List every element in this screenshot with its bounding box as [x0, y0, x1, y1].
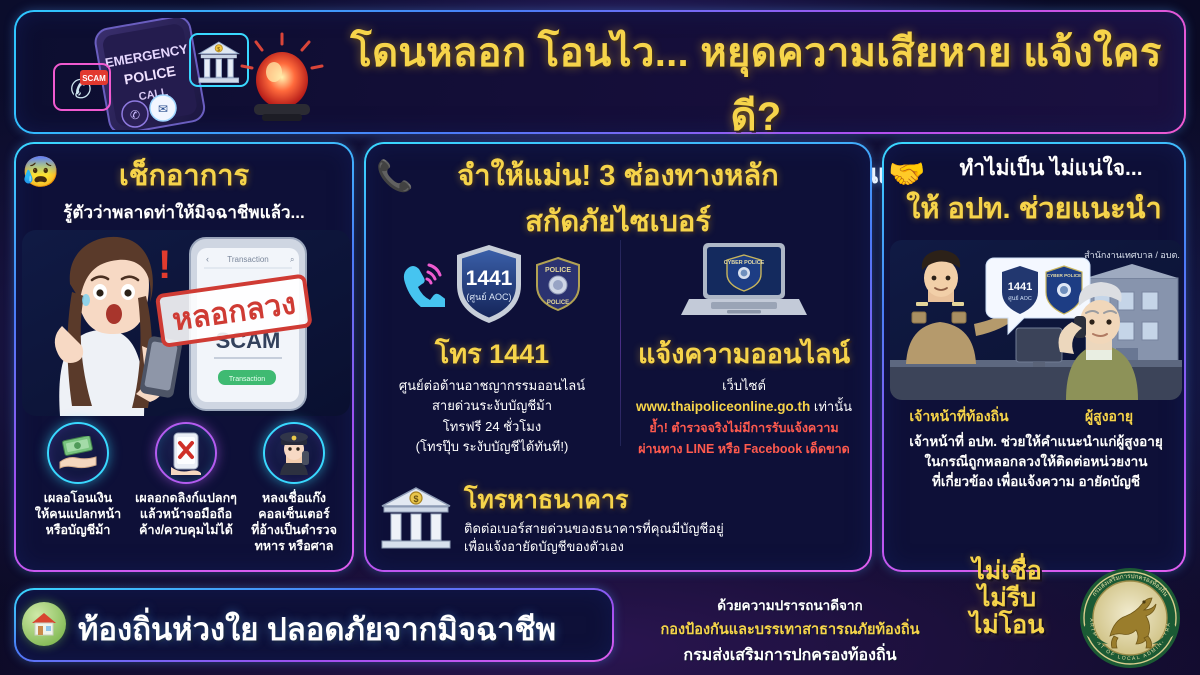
right-panel-heading-line1: ทำไม่เป็น ไม่แน่ใจ... — [892, 152, 1176, 185]
left-panel-header: 😰 เช็กอาการ รู้ตัวว่าพลาดท่าให้มิจฉาชีพแ… — [16, 152, 352, 226]
list-item: เผลอโอนเงิน ให้คนแปลกหน้า หรือบัญชีม้า — [26, 422, 130, 554]
call-1441-line1: ศูนย์ต่อต้านอาชญากรรมออนไลน์ — [372, 377, 612, 395]
bank-text-block: โทรหาธนาคาร ติดต่อเบอร์สายด่วนของธนาคารท… — [464, 480, 724, 556]
right-panel-body: เจ้าหน้าที่ อปท. ช่วยให้คำแนะนำแก่ผู้สูง… — [892, 432, 1180, 492]
left-panel-heading: เช็กอาการ — [24, 152, 344, 198]
svg-text:SCAM: SCAM — [82, 74, 106, 83]
right-body-line2: ในกรณีถูกหลอกลวงให้ติดต่อหน่วยงาน — [892, 452, 1180, 472]
footer-tagline-bar: ท้องถิ่นห่วงใย ปลอดภัยจากมิจฉาชีพ — [14, 588, 614, 662]
slogan-line-2: ไม่รีบ — [952, 585, 1062, 612]
svg-text:POLICE: POLICE — [545, 267, 571, 274]
svg-text:Transaction: Transaction — [229, 376, 265, 383]
website-url-row: www.thaipoliceonline.go.th เท่านั้น — [624, 397, 864, 416]
fake-police-icon — [263, 422, 325, 484]
svg-text:✉: ✉ — [158, 102, 168, 116]
page-title: โดนหลอก โอนไว... หยุดความเสียหาย แจ้งใคร… — [336, 20, 1176, 148]
panel-check-symptoms: 😰 เช็กอาการ รู้ตัวว่าพลาดท่าให้มิจฉาชีพแ… — [14, 142, 354, 572]
left-panel-subheading: รู้ตัวว่าพลาดท่าให้มิจฉาชีพแล้ว... — [24, 199, 344, 226]
website-url[interactable]: www.thaipoliceonline.go.th — [636, 399, 810, 414]
home-icon — [22, 602, 66, 646]
svg-text:POLICE: POLICE — [547, 300, 569, 306]
svg-text:‹: ‹ — [206, 254, 209, 264]
svg-text:$: $ — [413, 494, 418, 504]
website-url-suffix: เท่านั้น — [814, 399, 852, 414]
list-item-label: เผลอกดลิงก์แปลกๆ แล้วหน้าจอมือถือ ค้าง/ค… — [134, 490, 238, 538]
list-item: เผลอกดลิงก์แปลกๆ แล้วหน้าจอมือถือ ค้าง/ค… — [134, 422, 238, 554]
svg-text:CYBER POLICE: CYBER POLICE — [1047, 273, 1081, 278]
mid-panel-heading-line1: จำให้แม่น! 3 ช่องทางหลัก — [374, 152, 862, 198]
call-1441-illustration: 1441 (ศูนย์ AOC) POLICE POLICE — [372, 236, 612, 332]
svg-text:(ศูนย์ AOC): (ศูนย์ AOC) — [466, 291, 511, 303]
credit-line-2: กองป้องกันและบรรเทาสาธารณภัยท้องถิ่น — [630, 618, 950, 641]
police-badge-icon: POLICE POLICE — [533, 256, 583, 312]
label-elderly-person: ผู้สูงอายุ — [1034, 406, 1184, 428]
call-1441-line3: โทรฟรี 24 ชั่วโมง — [372, 418, 612, 436]
svg-text:!: ! — [158, 243, 171, 287]
online-report-warning-line1: ย้ำ! ตำรวจจริงไม่มีการรับแจ้งความ — [624, 420, 864, 438]
slogan-line-1: ไม่เชื่อ — [952, 558, 1062, 585]
panel-local-authority-help: 🤝 ทำไม่เป็น ไม่แน่ใจ... ให้ อปท. ช่วยแนะ… — [882, 142, 1186, 572]
call-1441-title: โทร 1441 — [372, 332, 612, 375]
website-label: เว็บไซต์ — [624, 377, 864, 395]
credit-line-3: กรมส่งเสริมการปกครองท้องถิ่น — [630, 643, 950, 668]
footer-slogan: ไม่เชื่อ ไม่รีบ ไม่โอน — [952, 558, 1062, 639]
online-report-title: แจ้งความออนไลน์ — [624, 332, 864, 375]
symptom-badge-list: เผลอโอนเงิน ให้คนแปลกหน้า หรือบัญชีม้า เ… — [24, 422, 348, 554]
credit-line-1: ด้วยความปรารถนาดีจาก — [630, 594, 950, 616]
cash-in-hand-icon — [47, 422, 109, 484]
right-panel-header: 🤝 ทำไม่เป็น ไม่แน่ใจ... ให้ อปท. ช่วยแนะ… — [884, 152, 1184, 231]
svg-text:✆: ✆ — [130, 108, 140, 122]
header-banner: EMERGENCY POLICE CALL ✆ ✉ ✆ SCAM — [14, 10, 1186, 134]
cyber-police-laptop-illustration: CYBER POLICE — [624, 236, 864, 332]
call-1441-line2: สายด่วนระงับบัญชีม้า — [372, 397, 612, 415]
channel-online-report: CYBER POLICE แจ้งความออนไลน์ เว็บไซต์ ww… — [618, 236, 870, 458]
list-item-label: เผลอโอนเงิน ให้คนแปลกหน้า หรือบัญชีม้า — [26, 490, 130, 538]
right-panel-heading-line2: ให้ อปท. ช่วยแนะนำ — [892, 185, 1176, 231]
label-local-officer: เจ้าหน้าที่ท้องถิ่น — [884, 406, 1034, 428]
channel-call-bank: $ โทรหาธนาคาร ติดต่อเบอร์สายด่วนของธนาคา… — [380, 480, 860, 556]
svg-text:1441: 1441 — [1008, 281, 1032, 293]
officer-elderly-illustration: สำนักงานเทศบาล / อบต. — [890, 240, 1182, 400]
illustration-labels: เจ้าหน้าที่ท้องถิ่น ผู้สูงอายุ — [884, 406, 1184, 428]
online-report-warning-line2: ผ่านทาง LINE หรือ Facebook เด็ดขาด — [624, 441, 864, 459]
call-1441-line4: (โทรปุ๊บ ระงับบัญชีได้ทันที!) — [372, 438, 612, 456]
svg-text:CYBER POLICE: CYBER POLICE — [724, 260, 765, 266]
header-illustration: EMERGENCY POLICE CALL ✆ ✉ ✆ SCAM — [30, 18, 330, 130]
worried-face-icon: 😰 — [22, 158, 59, 188]
footer-tagline: ท้องถิ่นห่วงใย ปลอดภัยจากมิจฉาชีพ — [78, 604, 556, 654]
list-item: หลงเชื่อแก๊ง คอลเซ็นเตอร์ ที่อ้างเป็นตำร… — [242, 422, 346, 554]
svg-text:$: $ — [217, 47, 220, 53]
bank-title: โทรหาธนาคาร — [464, 480, 724, 520]
bank-icon: $ — [380, 486, 452, 550]
list-item-label: หลงเชื่อแก๊ง คอลเซ็นเตอร์ ที่อ้างเป็นตำร… — [242, 490, 346, 554]
svg-text:Transaction: Transaction — [227, 255, 269, 264]
phone-x-icon — [155, 422, 217, 484]
right-body-line3: ที่เกี่ยวข้อง เพื่อแจ้งความ อายัดบัญชี — [892, 472, 1180, 492]
svg-text:สำนักงานเทศบาล / อบต.: สำนักงานเทศบาล / อบต. — [1084, 250, 1180, 260]
svg-text:ศูนย์ AOC: ศูนย์ AOC — [1008, 295, 1032, 302]
handshake-icon: 🤝 — [888, 160, 925, 190]
telephone-icon: 📞 — [376, 162, 413, 192]
right-body-line1: เจ้าหน้าที่ อปท. ช่วยให้คำแนะนำแก่ผู้สูง… — [892, 432, 1180, 452]
shield-1441-icon: 1441 (ศูนย์ AOC) — [453, 243, 525, 325]
bank-line2: เพื่อแจ้งอายัดบัญชีของตัวเอง — [464, 538, 724, 556]
ringing-phone-icon — [401, 261, 445, 307]
channel-call-1441: 1441 (ศูนย์ AOC) POLICE POLICE โทร 1441 … — [366, 236, 618, 458]
svg-text:⌕: ⌕ — [290, 255, 294, 264]
panel-three-channels: 📞 จำให้แม่น! 3 ช่องทางหลัก สกัดภัยไซเบอร… — [364, 142, 872, 572]
bank-line1: ติดต่อเบอร์สายด่วนของธนาคารที่คุณมีบัญชี… — [464, 520, 724, 538]
svg-text:1441: 1441 — [466, 267, 513, 290]
slogan-line-3: ไม่โอน — [952, 612, 1062, 639]
footer-credits: ด้วยความปรารถนาดีจาก กองป้องกันและบรรเทา… — [630, 594, 950, 668]
scam-victim-illustration: Transaction ‹ ⌕ SCAM Transaction ! — [22, 230, 350, 416]
infographic-canvas: EMERGENCY POLICE CALL ✆ ✉ ✆ SCAM — [0, 0, 1200, 675]
dla-seal-logo: กรมส่งเสริมการปกครองท้องถิ่น DEPARTMENT … — [1074, 566, 1186, 670]
mid-panel-header: 📞 จำให้แม่น! 3 ช่องทางหลัก สกัดภัยไซเบอร… — [366, 152, 870, 244]
